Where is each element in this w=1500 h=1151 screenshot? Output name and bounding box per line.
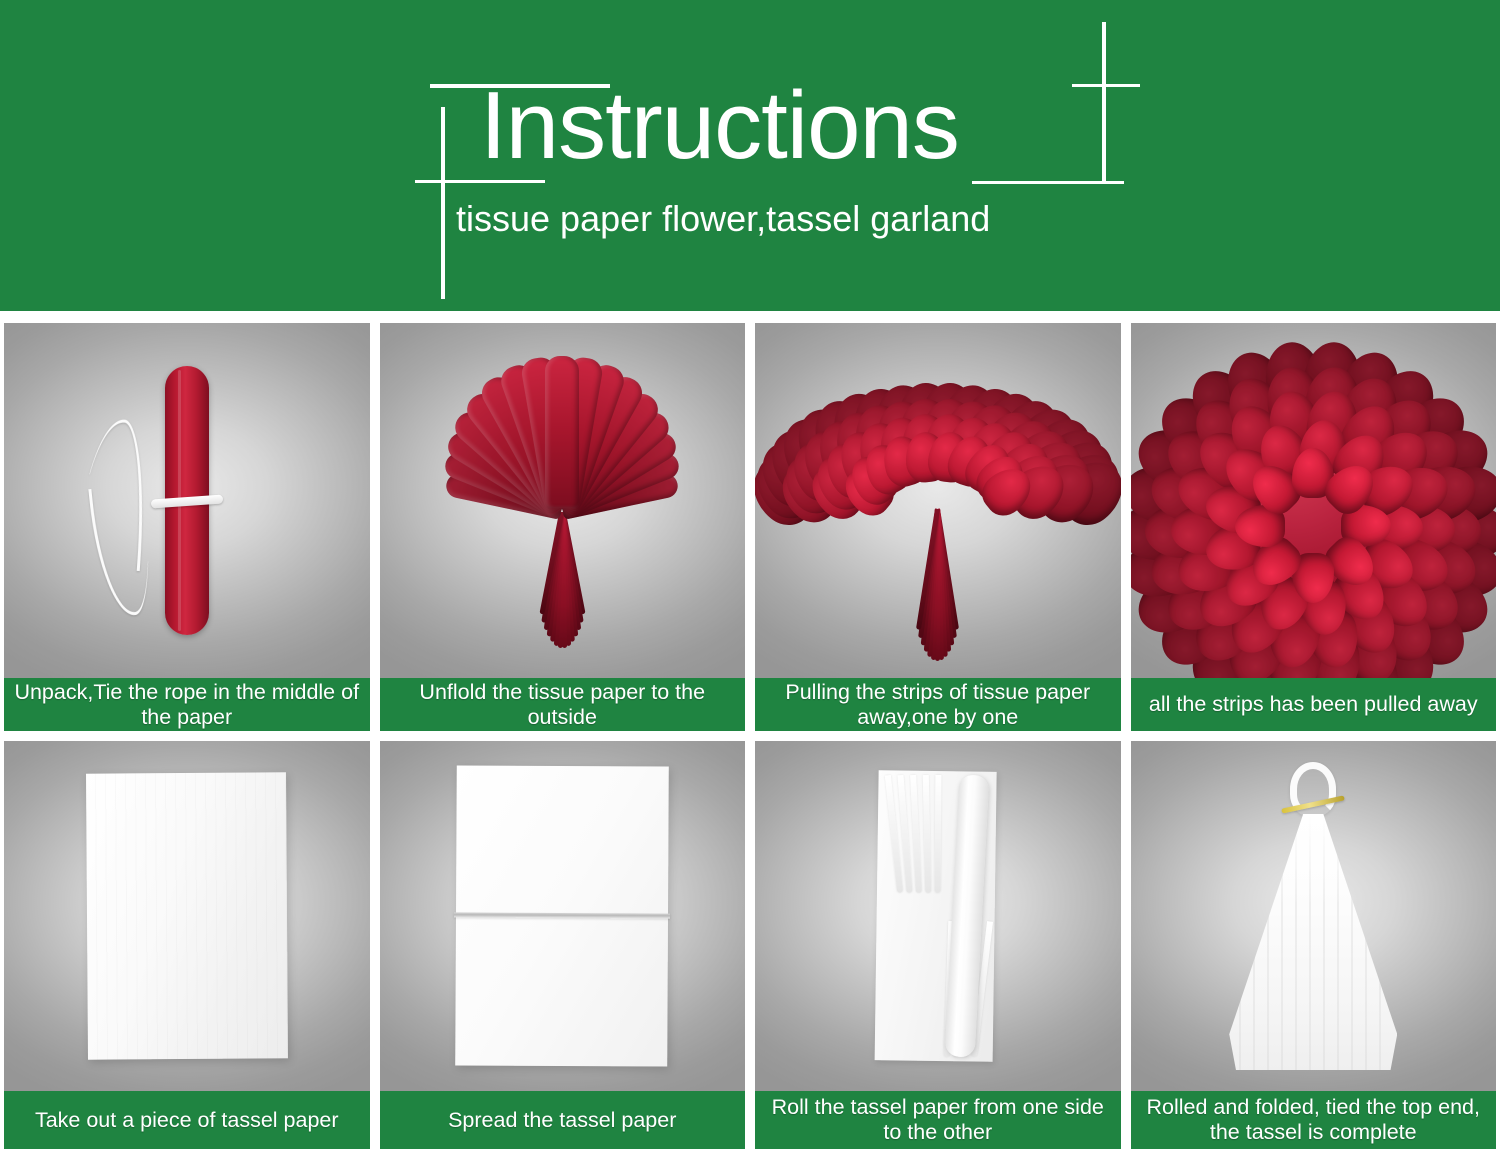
step-panel-6: Spread the tassel paper bbox=[380, 741, 746, 1149]
decor-line-bottom-right bbox=[972, 181, 1124, 184]
tassel-fold-line bbox=[1267, 814, 1269, 1070]
step-panel-5: Take out a piece of tassel paper bbox=[4, 741, 370, 1149]
tassel-fold-line bbox=[1337, 814, 1339, 1070]
tassel-fold-line bbox=[1351, 814, 1353, 1070]
fold-crease-line bbox=[454, 912, 670, 918]
decor-line-vertical-left bbox=[441, 107, 445, 299]
step-image-8 bbox=[1131, 741, 1497, 1091]
paper-grain bbox=[86, 772, 288, 1059]
step-image-3 bbox=[755, 323, 1121, 678]
fan-petal bbox=[545, 356, 579, 508]
step-caption-5: Take out a piece of tassel paper bbox=[4, 1091, 370, 1149]
page-subtitle: tissue paper flower,tassel garland bbox=[456, 198, 990, 240]
step-panel-1: Unpack,Tie the rope in the middle of the… bbox=[4, 323, 370, 731]
tassel-fold-line bbox=[1281, 814, 1283, 1070]
step-caption-3: Pulling the strips of tissue paper away,… bbox=[755, 678, 1121, 731]
step-image-1 bbox=[4, 323, 370, 678]
step-image-7 bbox=[755, 741, 1121, 1091]
tassel-fold-line bbox=[1295, 814, 1297, 1070]
step-caption-6: Spread the tassel paper bbox=[380, 1091, 746, 1149]
tassel-fold-line bbox=[1253, 814, 1255, 1070]
step-image-5 bbox=[4, 741, 370, 1091]
step-caption-8: Rolled and folded, tied the top end, the… bbox=[1131, 1091, 1497, 1149]
step-panel-4: all the strips has been pulled away bbox=[1131, 323, 1497, 731]
finished-tassel-icon bbox=[1228, 762, 1398, 1070]
tassel-fold-line bbox=[1239, 814, 1241, 1070]
step-caption-7: Roll the tassel paper from one side to t… bbox=[755, 1091, 1121, 1149]
step-caption-2: Unflold the tissue paper to the outside bbox=[380, 678, 746, 731]
paper-grain bbox=[457, 765, 669, 766]
step-image-2 bbox=[380, 323, 746, 678]
step-panel-7: Roll the tassel paper from one side to t… bbox=[755, 741, 1121, 1149]
paper-fringe-strand bbox=[910, 775, 922, 893]
step-caption-1: Unpack,Tie the rope in the middle of the… bbox=[4, 678, 370, 731]
rope-strand-lower-icon bbox=[89, 484, 158, 619]
instruction-sheet: Instructions tissue paper flower,tassel … bbox=[0, 0, 1500, 1151]
step-caption-4: all the strips has been pulled away bbox=[1131, 678, 1497, 731]
paper-fringe-strand bbox=[934, 775, 941, 893]
tassel-skirt bbox=[1229, 814, 1397, 1070]
step-image-6 bbox=[380, 741, 746, 1091]
step-panel-8: Rolled and folded, tied the top end, the… bbox=[1131, 741, 1497, 1149]
step-panel-3: Pulling the strips of tissue paper away,… bbox=[755, 323, 1121, 731]
header-banner: Instructions tissue paper flower,tassel … bbox=[0, 0, 1500, 311]
tassel-fold-line bbox=[1365, 814, 1367, 1070]
paper-fringe-strand bbox=[923, 775, 931, 893]
spread-tissue-sheet-icon bbox=[455, 765, 669, 1066]
decor-line-vertical-right bbox=[1102, 22, 1106, 182]
decor-line-cross-left bbox=[415, 180, 545, 183]
step-panel-2: Unflold the tissue paper to the outside bbox=[380, 323, 746, 731]
page-title: Instructions bbox=[480, 78, 959, 174]
steps-grid: Unpack,Tie the rope in the middle of the… bbox=[0, 323, 1500, 1151]
tassel-fold-line bbox=[1323, 814, 1325, 1070]
decor-line-cross-right bbox=[1072, 84, 1140, 87]
tassel-fold-line bbox=[1309, 814, 1311, 1070]
white-tissue-sheet-icon bbox=[86, 772, 288, 1059]
tassel-fold-line bbox=[1379, 814, 1381, 1070]
step-image-4 bbox=[1131, 323, 1497, 678]
